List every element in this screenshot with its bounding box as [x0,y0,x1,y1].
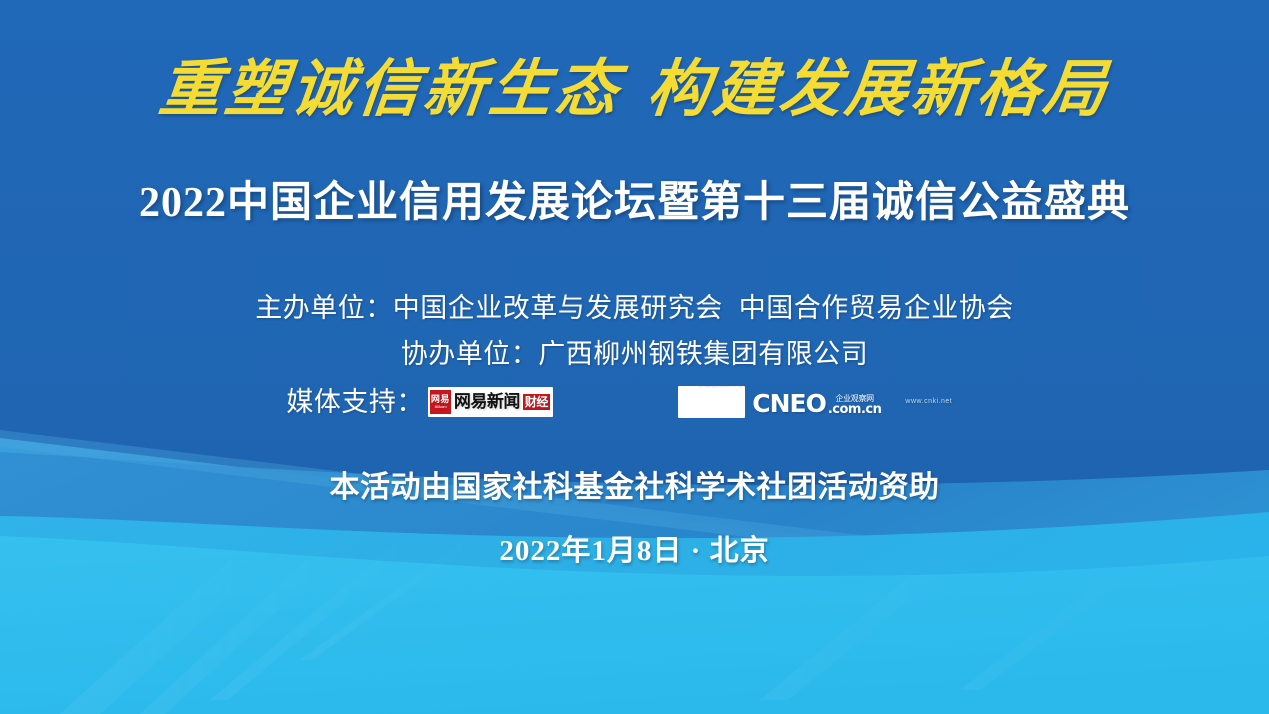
media-support-line: 媒体支持： 网易 163.com 网易新闻 财经 [286,379,982,425]
media-logo-list: 网易 163.com 网易新闻 财经 sina 新浪财经 交易 · [428,386,983,418]
netease-badge-bottom: 163.com [434,405,446,409]
main-title-part-1: 重塑诚信新生态 [156,52,626,125]
sina-logo-row: sina 新浪财经 [561,387,671,402]
page-title: 重塑诚信新生态构建发展新格局 [0,52,1269,126]
sina-wordmark: sina [577,387,610,402]
cneo-domain: .com.cn [828,403,882,416]
ifeng-logo-text: 鳳凰網 [698,386,742,403]
host-organizer-value-2: 中国合作贸易企业协会 [739,285,1014,331]
sina-logo-text: 新浪财经 [613,387,671,402]
event-poster: 重塑诚信新生态构建发展新格局 2022中国企业信用发展论坛暨第十三届诚信公益盛典… [0,0,1269,714]
netease-news-logo[interactable]: 网易 163.com 网易新闻 财经 [428,387,553,417]
cnki-url: www.cnki.net [905,387,952,417]
netease-badge-top: 网易 [431,395,450,404]
page-subtitle: 2022中国企业信用发展论坛暨第十三届诚信公益盛典 [0,168,1269,229]
organizers-block: 主办单位： 中国企业改革与发展研究会 中国合作贸易企业协会 协办单位： 广西柳州… [0,285,1269,425]
ifeng-logo[interactable]: 鳳凰網 IFENG.COM [678,386,746,418]
cneo-logo[interactable]: CNEO 企业观察网 .com.cn [752,387,881,417]
ifeng-logo-row: 鳳凰網 [682,386,742,403]
cnki-logo[interactable]: nki 中国知网 www.cnki.net 中国知识基础设施工程 [888,387,982,417]
media-support-label: 媒体支持： [286,379,424,425]
cneo-right-stack: 企业观察网 .com.cn [828,395,882,417]
event-date-location: 2022年1月8日 · 北京 [0,527,1269,569]
sina-finance-logo[interactable]: sina 新浪财经 交易 · 资讯 · 数据 · 服务 [560,387,671,417]
cneo-wordmark: CNEO [752,391,826,417]
footer-block: 本活动由国家社科基金社科学术社团活动资助 2022年1月8日 · 北京 [0,462,1269,569]
main-title-part-2: 构建发展新格局 [644,52,1114,125]
netease-badge-icon: 网易 163.com [430,390,451,414]
funding-note: 本活动由国家社科基金社科学术社团活动资助 [0,462,1269,506]
host-organizer-value: 中国企业改革与发展研究会 [393,285,723,331]
netease-finance-tag: 财经 [523,394,550,410]
ifeng-domain: IFENG.COM [685,402,739,419]
sina-tagline: 交易 · 资讯 · 数据 · 服务 [563,403,625,418]
poster-content: 重塑诚信新生态构建发展新格局 2022中国企业信用发展论坛暨第十三届诚信公益盛典… [0,0,1269,714]
co-organizer-value: 广西柳州钢铁集团有限公司 [538,331,868,377]
co-organizer-line: 协办单位： 广西柳州钢铁集团有限公司 [401,331,869,377]
netease-logo-text: 网易新闻 [454,387,520,417]
host-organizer-line: 主办单位： 中国企业改革与发展研究会 中国合作贸易企业协会 [255,285,1014,331]
host-organizer-label: 主办单位： [255,285,393,331]
co-organizer-label: 协办单位： [401,331,539,377]
